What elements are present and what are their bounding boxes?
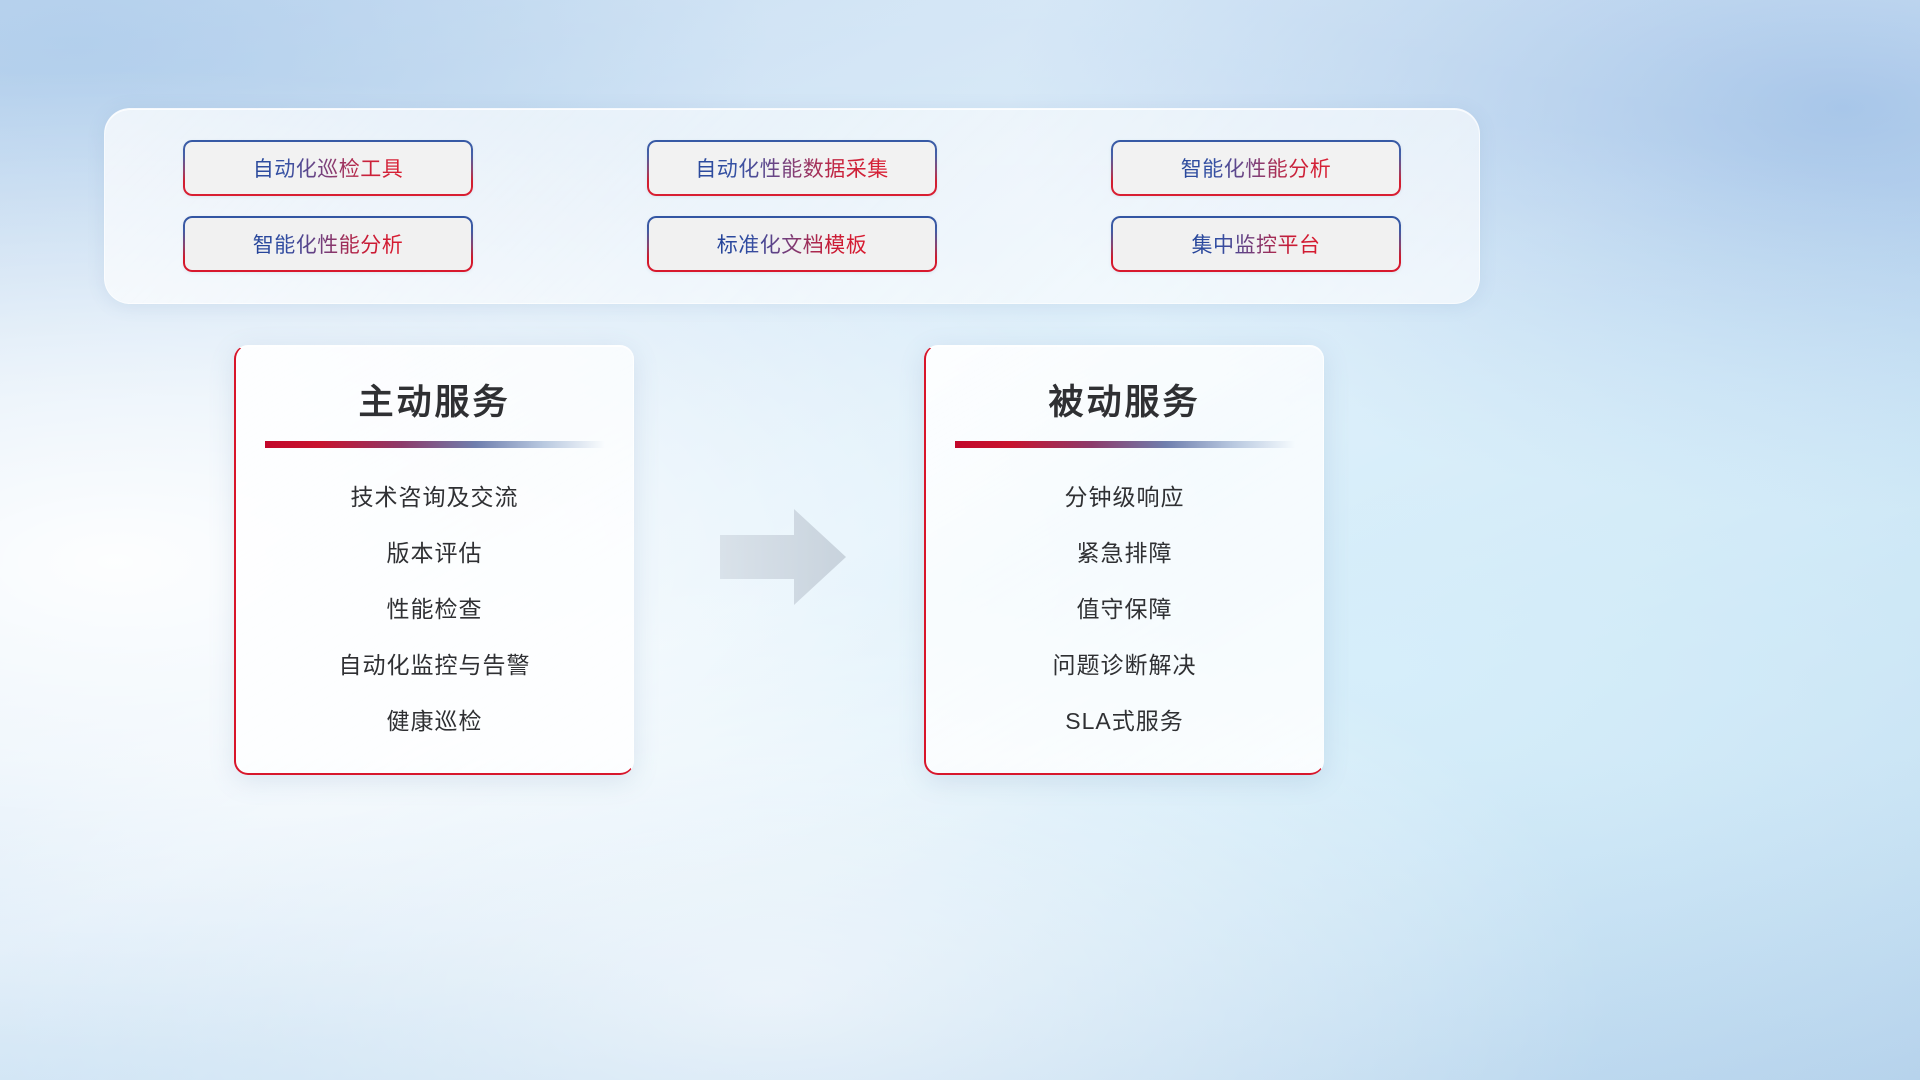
capabilities-panel: 自动化巡检工具 自动化性能数据采集 智能化性能分析 智能化性能分析 标准化文档模… [104, 108, 1480, 304]
list-item: 自动化监控与告警 [339, 646, 531, 680]
list-item: 技术咨询及交流 [351, 478, 519, 512]
card-divider [265, 441, 605, 448]
capability-chip[interactable]: 集中监控平台 [1111, 216, 1401, 272]
capability-chip[interactable]: 智能化性能分析 [183, 216, 473, 272]
capability-chip-label: 智能化性能分析 [253, 229, 404, 259]
card-divider [955, 441, 1295, 448]
arrow-right-icon [716, 505, 850, 609]
list-item: 分钟级响应 [1065, 478, 1185, 512]
card-title: 被动服务 [926, 374, 1323, 425]
capability-chip-label: 自动化巡检工具 [253, 153, 404, 183]
capability-chip-label: 标准化文档模板 [717, 229, 868, 259]
capability-chip[interactable]: 自动化巡检工具 [183, 140, 473, 196]
list-item: SLA式服务 [1065, 702, 1183, 736]
capability-row-2: 智能化性能分析 标准化文档模板 集中监控平台 [183, 216, 1401, 272]
card-item-list: 技术咨询及交流 版本评估 性能检查 自动化监控与告警 健康巡检 [236, 478, 633, 736]
list-item: 紧急排障 [1077, 534, 1173, 568]
list-item: 健康巡检 [387, 702, 483, 736]
service-card-proactive[interactable]: 主动服务 技术咨询及交流 版本评估 性能检查 自动化监控与告警 健康巡检 [234, 345, 634, 775]
list-item: 值守保障 [1077, 590, 1173, 624]
card-item-list: 分钟级响应 紧急排障 值守保障 问题诊断解决 SLA式服务 [926, 478, 1323, 736]
list-item: 版本评估 [387, 534, 483, 568]
capability-chip-label: 智能化性能分析 [1181, 153, 1332, 183]
capability-chip-label: 自动化性能数据采集 [695, 153, 889, 183]
capability-chip[interactable]: 标准化文档模板 [647, 216, 937, 272]
service-card-reactive[interactable]: 被动服务 分钟级响应 紧急排障 值守保障 问题诊断解决 SLA式服务 [924, 345, 1324, 775]
capability-chip[interactable]: 自动化性能数据采集 [647, 140, 937, 196]
list-item: 问题诊断解决 [1053, 646, 1197, 680]
card-title: 主动服务 [236, 374, 633, 425]
infographic-canvas: 自动化巡检工具 自动化性能数据采集 智能化性能分析 智能化性能分析 标准化文档模… [0, 0, 1920, 1080]
capability-row-1: 自动化巡检工具 自动化性能数据采集 智能化性能分析 [183, 140, 1401, 196]
capability-chip-label: 集中监控平台 [1192, 229, 1321, 259]
list-item: 性能检查 [387, 590, 483, 624]
capability-chip[interactable]: 智能化性能分析 [1111, 140, 1401, 196]
